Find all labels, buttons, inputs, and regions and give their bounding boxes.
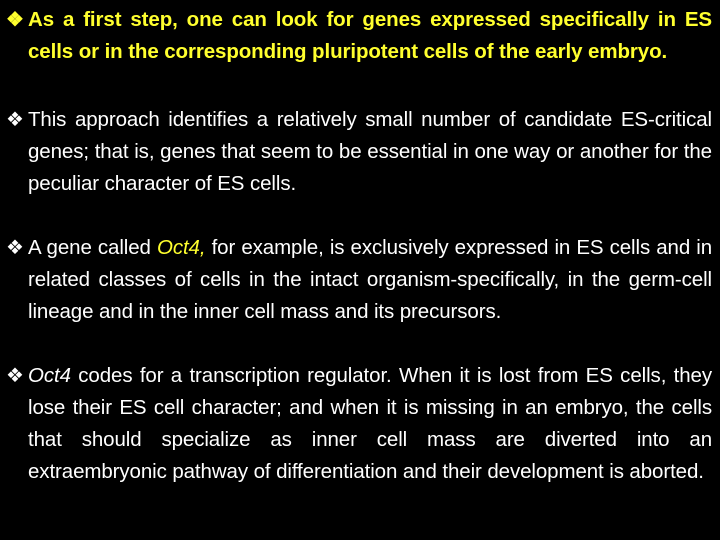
diamond-bullet-icon: ❖ [6,232,28,264]
bullet-paragraph-3: ❖ A gene called Oct4, for example, is ex… [6,232,712,328]
paragraph-4-seg-1: codes for a transcription regulator. Whe… [28,364,712,483]
gene-name-oct4-italic: Oct4 [28,364,71,387]
bullet-paragraph-1: ❖ As a first step, one can look for gene… [6,4,712,68]
paragraph-2-text: This approach identifies a relatively sm… [28,104,712,200]
bullet-paragraph-2: ❖ This approach identifies a relatively … [6,104,712,200]
slide-canvas: ❖ As a first step, one can look for gene… [0,0,720,540]
diamond-bullet-icon: ❖ [6,104,28,136]
gene-name-oct4-highlight: Oct4, [157,236,206,259]
diamond-bullet-icon: ❖ [6,360,28,392]
paragraph-3-text: A gene called Oct4, for example, is excl… [28,232,712,328]
paragraph-4-text: Oct4 codes for a transcription regulator… [28,360,712,488]
paragraph-1-text: As a first step, one can look for genes … [28,4,712,68]
bullet-paragraph-4: ❖ Oct4 codes for a transcription regulat… [6,360,712,488]
diamond-bullet-icon: ❖ [6,4,28,36]
paragraph-3-seg-0: A gene called [28,236,157,259]
